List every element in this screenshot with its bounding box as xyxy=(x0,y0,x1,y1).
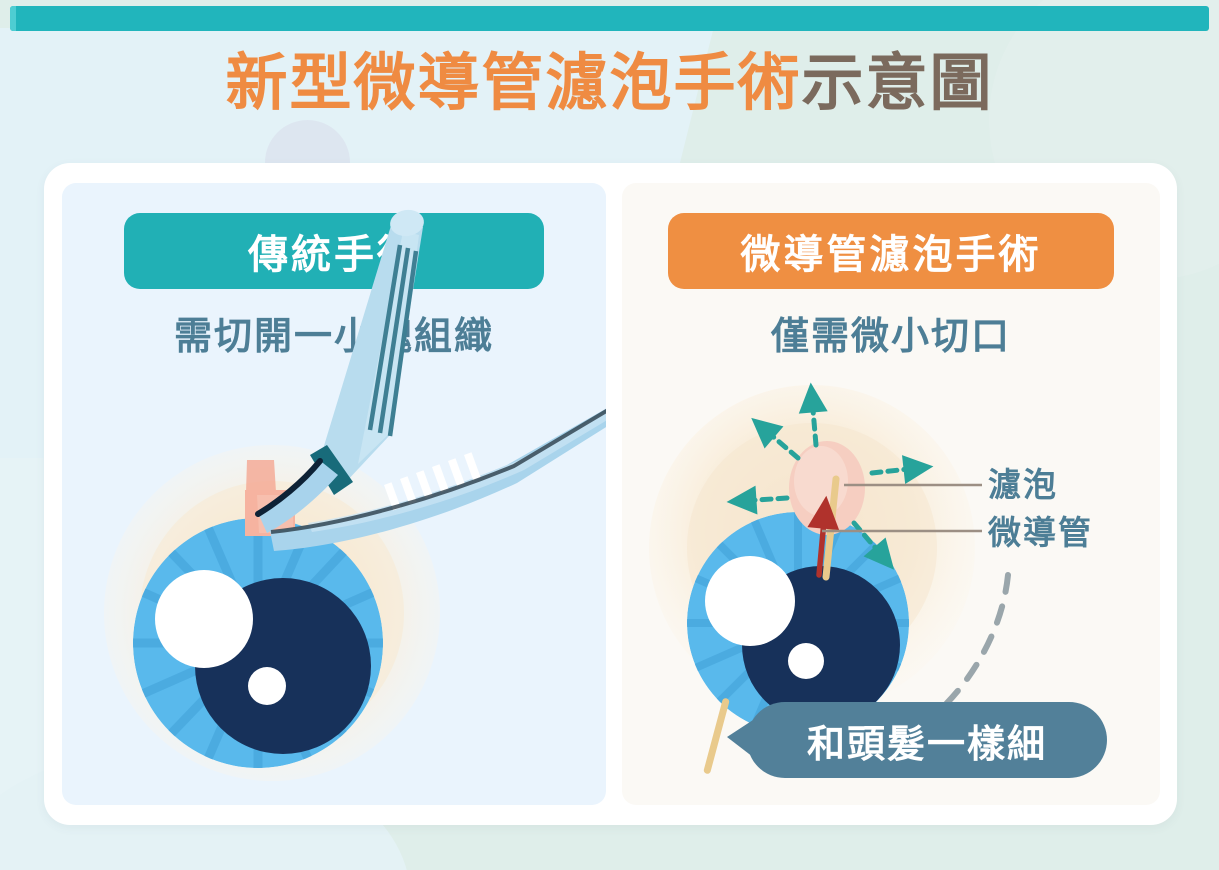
eye-highlight-large-traditional xyxy=(155,570,253,668)
page-title-highlight: 新型微導管濾泡手術 xyxy=(225,49,801,118)
page-title-suffix: 示意圖 xyxy=(802,49,994,118)
panel-microcatheter-surgery: 微導管濾泡手術 僅需微小切口 xyxy=(622,183,1160,805)
panel-traditional-surgery: 傳統手術 需切開一小塊組織 xyxy=(62,183,606,805)
annotation-label-microcatheter: 微導管 xyxy=(988,513,1093,553)
flow-arrow-left xyxy=(742,498,787,501)
top-accent-bar-highlight xyxy=(10,6,16,31)
annotation-label-bleb: 濾泡 xyxy=(988,465,1058,505)
page-title: 新型微導管濾泡手術示意圖 xyxy=(0,53,1219,115)
callout-bubble-tail xyxy=(727,720,753,757)
top-accent-bar xyxy=(10,6,1209,31)
illustration-traditional-surgery xyxy=(62,183,606,805)
eye-highlight-large-microcatheter xyxy=(705,556,795,646)
callout-bubble-label: 和頭髮一樣細 xyxy=(807,713,1047,768)
callout-bubble: 和頭髮一樣細 xyxy=(747,702,1107,778)
content-card: 傳統手術 需切開一小塊組織 xyxy=(44,163,1177,825)
eye-highlight-small-microcatheter xyxy=(788,643,824,679)
eye-highlight-small-traditional xyxy=(248,667,286,705)
